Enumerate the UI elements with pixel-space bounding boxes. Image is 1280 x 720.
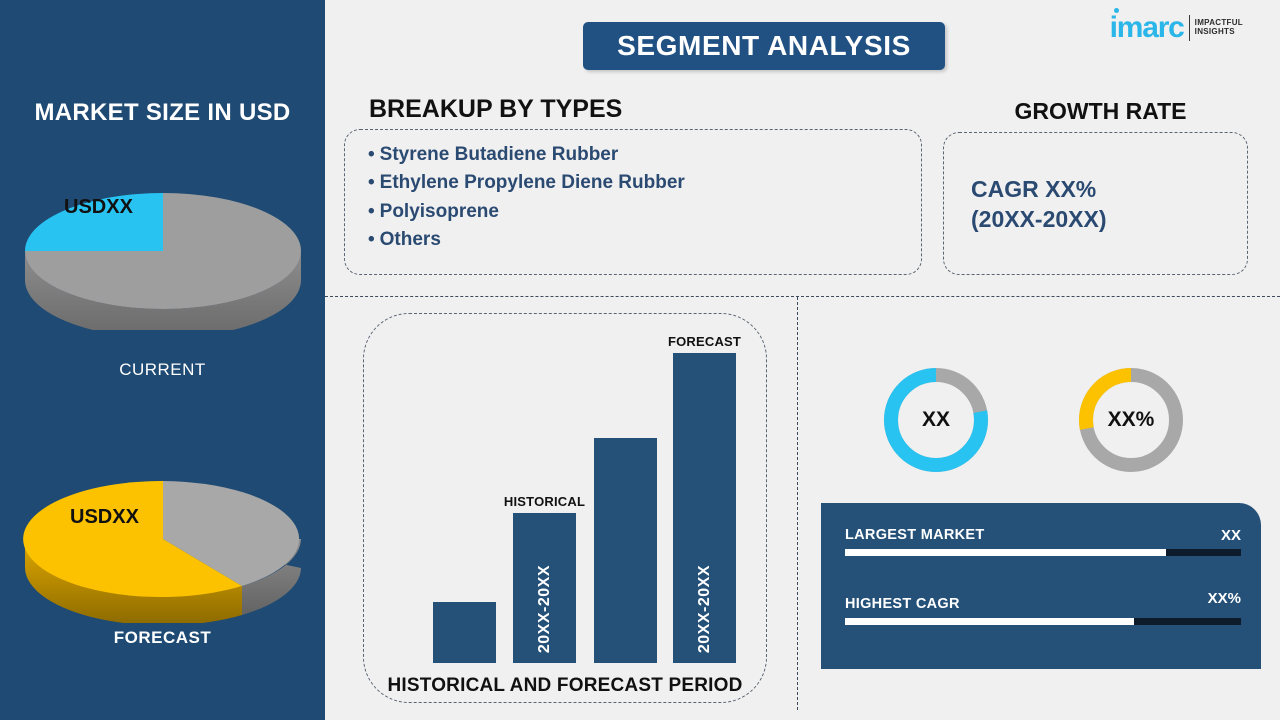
page-title: SEGMENT ANALYSIS (617, 30, 911, 62)
segment-analysis-header: SEGMENT ANALYSIS (583, 22, 945, 70)
logo-dot-icon (1114, 8, 1119, 13)
imarc-logo: imarc IMPACTFUL INSIGHTS (1110, 13, 1243, 43)
donut-two: XX% (1076, 365, 1186, 475)
bullet-icon: • (368, 172, 375, 193)
logo-tagline-line2: INSIGHTS (1195, 28, 1243, 37)
current-pie-chart (22, 155, 304, 335)
stats-panel: LARGEST MARKET XX HIGHEST CAGR XX% (821, 503, 1261, 669)
bar-2: HISTORICAL 20XX-20XX (513, 513, 576, 663)
list-item-label: Others (380, 229, 441, 250)
horizontal-divider (325, 296, 1280, 297)
current-pie-svg (22, 155, 304, 330)
forecast-pie-caption: FORECAST (0, 628, 325, 648)
growth-rate-title: GROWTH RATE (943, 98, 1258, 125)
cagr-line-1: CAGR XX% (971, 174, 1107, 204)
bullet-icon: • (368, 229, 375, 250)
types-list: •Styrene Butadiene Rubber •Ethylene Prop… (368, 141, 685, 255)
bar-4-inner-label: 20XX-20XX (696, 565, 714, 653)
forecast-pie-chart (22, 443, 304, 628)
bar-2-top-label: HISTORICAL (504, 494, 585, 509)
bullet-icon: • (368, 201, 375, 222)
donut-two-center-label: XX% (1076, 365, 1186, 475)
bar-4: FORECAST 20XX-20XX (673, 353, 736, 663)
current-pie-caption: CURRENT (0, 360, 325, 380)
pie-slice-value (25, 193, 163, 251)
breakup-by-types-title: BREAKUP BY TYPES (369, 95, 622, 124)
infographic-page: MARKET SIZE IN USD USDXX CURRENT (0, 0, 1280, 720)
vertical-divider (797, 297, 798, 710)
bar-4-top-label: FORECAST (668, 334, 741, 349)
largest-market-label: LARGEST MARKET (845, 527, 985, 543)
logo-tagline: IMPACTFUL INSIGHTS (1195, 19, 1243, 37)
historical-forecast-bar-chart: HISTORICAL 20XX-20XX FORECAST 20XX-20XX (363, 313, 767, 703)
market-size-title: MARKET SIZE IN USD (0, 99, 325, 127)
bullet-icon: • (368, 144, 375, 165)
donut-one-center-label: XX (881, 365, 991, 475)
highest-cagr-track (845, 618, 1241, 625)
bar-1 (433, 602, 496, 663)
list-item: •Ethylene Propylene Diene Rubber (368, 169, 685, 197)
logo-wordmark: imarc (1110, 13, 1184, 43)
list-item: •Polyisoprene (368, 198, 685, 226)
cagr-line-2: (20XX-20XX) (971, 204, 1107, 234)
bar-2-inner-label: 20XX-20XX (536, 565, 554, 653)
largest-market-track (845, 549, 1241, 556)
highest-cagr-fill (845, 618, 1134, 625)
list-item-label: Styrene Butadiene Rubber (380, 144, 619, 165)
list-item: •Others (368, 226, 685, 254)
bar-3 (594, 438, 657, 663)
highest-cagr-value: XX% (1208, 590, 1241, 607)
cagr-text: CAGR XX% (20XX-20XX) (971, 174, 1107, 234)
forecast-pie-svg (22, 443, 304, 623)
largest-market-value: XX (1221, 527, 1241, 544)
chart-caption: HISTORICAL AND FORECAST PERIOD (363, 675, 767, 697)
logo-divider (1189, 15, 1190, 41)
largest-market-fill (845, 549, 1166, 556)
donut-one: XX (881, 365, 991, 475)
content-area: SEGMENT ANALYSIS imarc IMPACTFUL INSIGHT… (325, 0, 1280, 720)
highest-cagr-label: HIGHEST CAGR (845, 596, 960, 612)
list-item: •Styrene Butadiene Rubber (368, 141, 685, 169)
list-item-label: Polyisoprene (380, 201, 499, 222)
list-item-label: Ethylene Propylene Diene Rubber (380, 172, 685, 193)
